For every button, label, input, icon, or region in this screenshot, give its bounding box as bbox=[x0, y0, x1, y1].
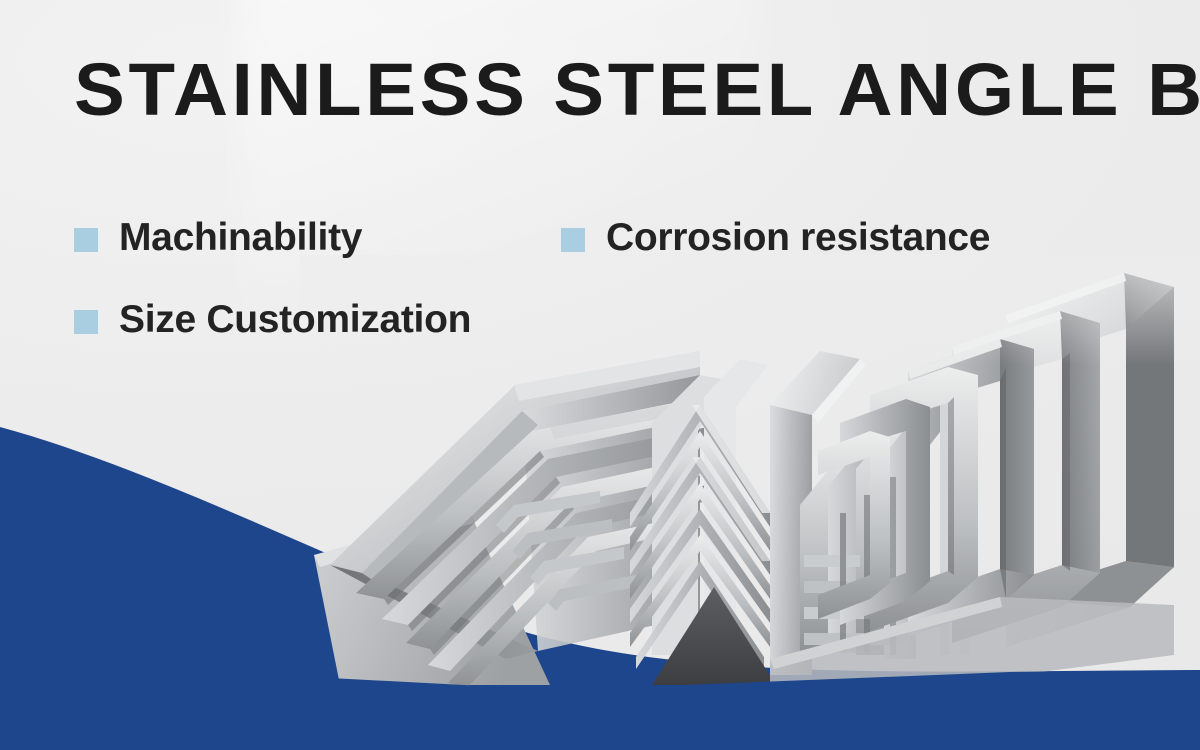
feature-label: Machinability bbox=[119, 216, 362, 260]
feature-item-machinability[interactable]: Machinability bbox=[74, 216, 561, 260]
feature-label: Corrosion resistance bbox=[606, 216, 990, 260]
square-bullet-icon bbox=[74, 310, 98, 334]
page-title: STAINLESS STEEL ANGLE BAR bbox=[74, 50, 1200, 130]
square-bullet-icon bbox=[561, 228, 585, 252]
feature-label: Size Customization bbox=[119, 298, 471, 342]
feature-row-1: Machinability Corrosion resistance bbox=[74, 216, 1074, 260]
square-bullet-icon bbox=[74, 228, 98, 252]
feature-item-size-customization[interactable]: Size Customization bbox=[74, 298, 561, 342]
feature-item-corrosion-resistance[interactable]: Corrosion resistance bbox=[561, 216, 990, 260]
product-banner: STAINLESS STEEL ANGLE BAR Machinability … bbox=[0, 0, 1200, 750]
feature-list: Machinability Corrosion resistance Size … bbox=[74, 216, 1074, 342]
feature-row-2: Size Customization bbox=[74, 298, 1074, 342]
